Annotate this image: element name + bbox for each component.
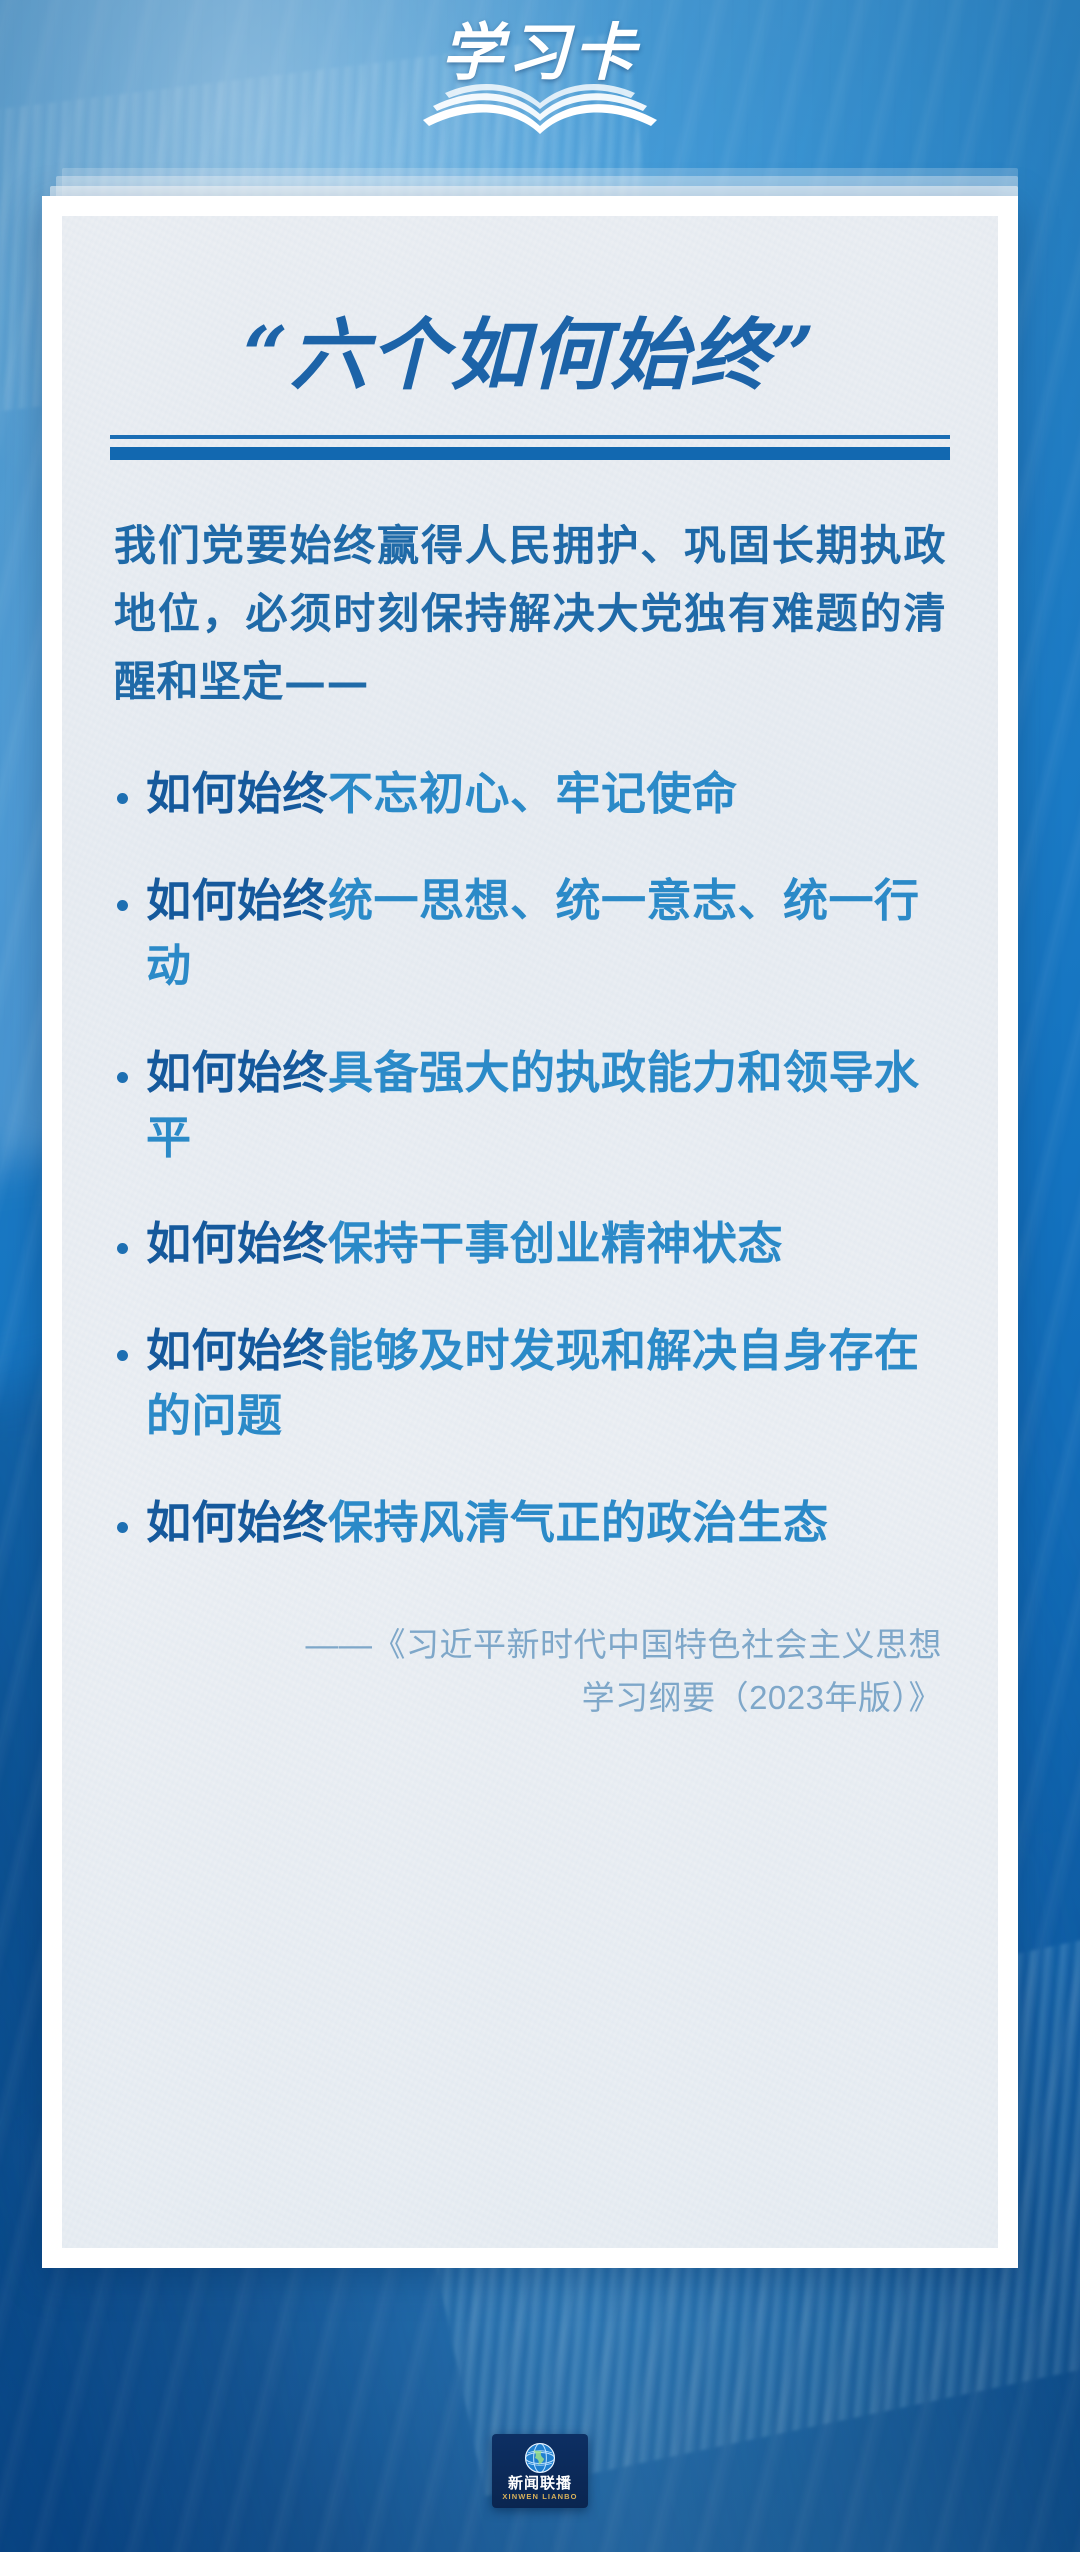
badge-title-cn: 新闻联播 bbox=[492, 2476, 588, 2491]
attribution-line-2: 学习纲要（2023年版）》 bbox=[110, 1671, 942, 1724]
footer: 新闻联播 XINWEN LIANBO bbox=[0, 2434, 1080, 2508]
list-item: 如何始终保持干事创业精神状态 bbox=[110, 1212, 950, 1277]
bullet-rest: 保持风清气正的政治生态 bbox=[328, 1497, 829, 1548]
card-paper: “六个如何始终” 我们党要始终赢得人民拥护、巩固长期执政地位，必须时刻保持解决大… bbox=[62, 216, 998, 2248]
bullet-rest: 不忘初心、牢记使命 bbox=[328, 768, 738, 819]
attribution-line-1: ——《习近平新时代中国特色社会主义思想 bbox=[110, 1618, 942, 1671]
globe-icon bbox=[523, 2441, 557, 2475]
divider-thick-line bbox=[110, 447, 950, 460]
list-item: 如何始终具备强大的执政能力和领导水平 bbox=[110, 1041, 950, 1171]
source-attribution: ——《习近平新时代中国特色社会主义思想 学习纲要（2023年版）》 bbox=[110, 1618, 950, 1725]
bullet-lead: 如何始终 bbox=[146, 1218, 328, 1269]
list-item: 如何始终统一思想、统一意志、统一行动 bbox=[110, 869, 950, 999]
bullet-lead: 如何始终 bbox=[146, 1497, 328, 1548]
title-divider bbox=[110, 435, 950, 460]
intro-paragraph: 我们党要始终赢得人民拥护、巩固长期执政地位，必须时刻保持解决大党独有难题的清醒和… bbox=[114, 512, 946, 716]
poster-root: 学习卡 “六个如何始终” 我们党要始终赢得人民拥护、巩固长期执政地位，必须时刻保… bbox=[0, 0, 1080, 2552]
page-title: “六个如何始终” bbox=[110, 216, 950, 399]
bullet-rest: 保持干事创业精神状态 bbox=[328, 1218, 783, 1269]
bullet-lead: 如何始终 bbox=[146, 875, 328, 926]
bullet-lead: 如何始终 bbox=[146, 1047, 328, 1098]
badge-title-en: XINWEN LIANBO bbox=[492, 2493, 588, 2501]
bullet-list: 如何始终不忘初心、牢记使命 如何始终统一思想、统一意志、统一行动 如何始终具备强… bbox=[110, 762, 950, 1555]
header: 学习卡 bbox=[0, 18, 1080, 148]
content-card: “六个如何始终” 我们党要始终赢得人民拥护、巩固长期执政地位，必须时刻保持解决大… bbox=[42, 196, 1018, 2268]
list-item: 如何始终不忘初心、牢记使命 bbox=[110, 762, 950, 827]
divider-thin-line bbox=[110, 435, 950, 439]
open-book-icon bbox=[415, 70, 665, 142]
bullet-lead: 如何始终 bbox=[146, 1325, 328, 1376]
list-item: 如何始终能够及时发现和解决自身存在的问题 bbox=[110, 1319, 950, 1449]
broadcaster-badge: 新闻联播 XINWEN LIANBO bbox=[492, 2434, 588, 2508]
bullet-lead: 如何始终 bbox=[146, 768, 328, 819]
brand-logo: 学习卡 bbox=[415, 18, 665, 142]
list-item: 如何始终保持风清气正的政治生态 bbox=[110, 1491, 950, 1556]
